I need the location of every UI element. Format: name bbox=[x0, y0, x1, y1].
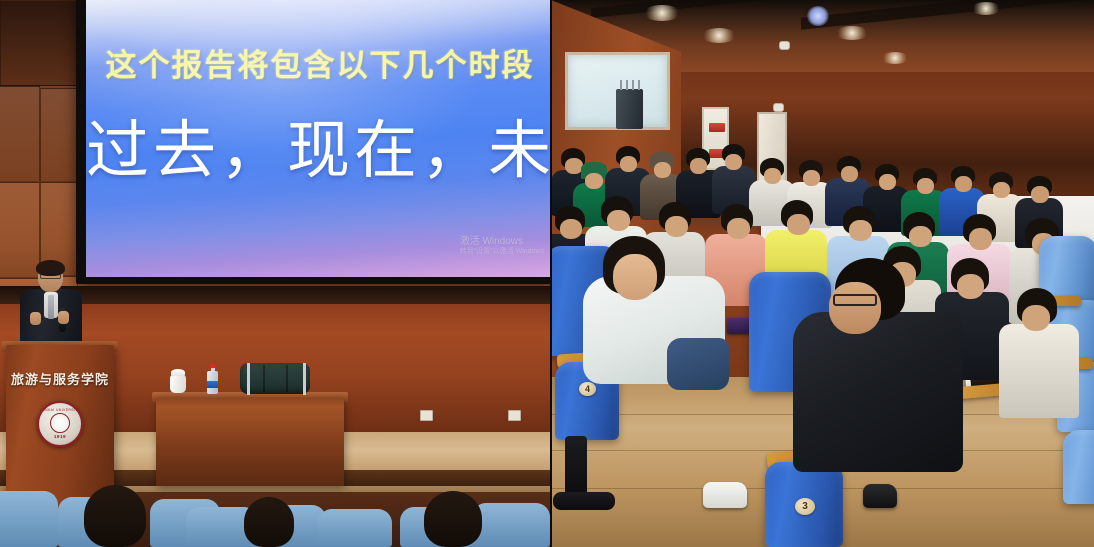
photo-divider bbox=[550, 0, 552, 547]
foreground-audience-head bbox=[424, 491, 482, 547]
windows-activation-watermark: 激活 Windows 转到"设置"以激活 Windows bbox=[460, 236, 544, 257]
audience-face bbox=[665, 216, 688, 237]
seat-number-badge: 4 bbox=[579, 382, 596, 396]
audience-face bbox=[764, 168, 781, 184]
smoke-detector-icon bbox=[779, 41, 790, 50]
watermark-line-1: 激活 Windows bbox=[460, 236, 544, 249]
rack-antenna bbox=[638, 80, 640, 90]
audience-face bbox=[607, 210, 630, 231]
right-photo-audience-scene: 4 3 bbox=[551, 0, 1094, 547]
bottle-label bbox=[207, 381, 218, 388]
audience-face bbox=[1031, 186, 1049, 203]
rack-antenna bbox=[632, 80, 634, 90]
slide-main-text: 过去，现在，未来 bbox=[86, 100, 551, 191]
seal-top-text: NANKAI UNIVERSITY bbox=[40, 409, 81, 412]
seat-number-badge: 3 bbox=[795, 498, 815, 515]
audience-face bbox=[725, 154, 742, 170]
slide-title-text: 这个报告将包含以下几个时段 bbox=[86, 40, 551, 85]
audience-face bbox=[727, 218, 750, 239]
audience-face bbox=[909, 226, 932, 247]
seat-foot bbox=[553, 492, 615, 510]
chair-leg bbox=[303, 363, 306, 395]
ceiling-downlight-icon bbox=[971, 2, 1001, 15]
auditorium-seat[interactable] bbox=[1063, 430, 1094, 504]
audience-face bbox=[841, 166, 858, 182]
audience-face bbox=[803, 170, 820, 186]
audience-face bbox=[955, 176, 972, 192]
foreground-audience-head bbox=[84, 485, 146, 547]
foreground-seat bbox=[472, 503, 550, 547]
head-table bbox=[156, 398, 344, 486]
audience-face bbox=[620, 156, 637, 172]
seal-year: 1919 bbox=[54, 434, 66, 439]
rack-antenna bbox=[620, 80, 622, 90]
tea-cup-lid bbox=[171, 369, 185, 376]
foreground-seat bbox=[318, 509, 392, 547]
smoke-detector-icon bbox=[773, 103, 784, 112]
foreground-seat bbox=[0, 491, 58, 547]
wall-panel bbox=[0, 0, 78, 86]
wall-outlet bbox=[420, 410, 433, 421]
university-seal-icon: NANKAI UNIVERSITY 1919 bbox=[37, 401, 83, 447]
speaker-tie bbox=[48, 295, 54, 319]
audience-face bbox=[957, 274, 984, 299]
ceiling-downlight-icon bbox=[807, 6, 829, 26]
audience-face bbox=[969, 228, 992, 250]
audience-face bbox=[879, 174, 896, 190]
audience-black-jacket bbox=[793, 312, 963, 472]
left-photo-podium-scene: 这个报告将包含以下几个时段 过去，现在，未来 激活 Windows 转到"设置"… bbox=[0, 0, 551, 547]
audience-face bbox=[690, 158, 707, 174]
audience-face bbox=[993, 182, 1010, 198]
extinguisher-unit bbox=[709, 123, 725, 132]
projection-booth-window bbox=[565, 52, 670, 130]
rack-antenna bbox=[626, 80, 628, 90]
audience-face bbox=[917, 178, 934, 194]
speaker-hand-left bbox=[30, 312, 41, 325]
podium-label: 旅游与服务学院 bbox=[6, 369, 114, 388]
audience-shoe bbox=[863, 484, 897, 508]
head-table-chair bbox=[240, 363, 310, 394]
podium: 旅游与服务学院 NANKAI UNIVERSITY 1919 bbox=[6, 345, 114, 510]
audience-face bbox=[585, 173, 603, 189]
wall-panel bbox=[40, 88, 78, 182]
ceiling-downlight-icon bbox=[881, 52, 909, 64]
seal-inner-ring bbox=[50, 413, 70, 433]
photo-composite: 这个报告将包含以下几个时段 过去，现在，未来 激活 Windows 转到"设置"… bbox=[0, 0, 1094, 547]
audience-jeans bbox=[667, 338, 729, 390]
audience-face bbox=[829, 282, 881, 334]
foreground-audience-head bbox=[244, 497, 294, 547]
audience-shoe bbox=[703, 482, 747, 508]
tea-cup bbox=[170, 369, 186, 393]
projection-screen-frame: 这个报告将包含以下几个时段 过去，现在，未来 激活 Windows 转到"设置"… bbox=[76, 0, 551, 284]
watermark-line-2: 转到"设置"以激活 Windows bbox=[460, 248, 544, 257]
audience-face bbox=[613, 254, 657, 300]
water-bottle bbox=[207, 364, 218, 394]
projection-equipment-rack bbox=[616, 89, 643, 129]
glasses-icon bbox=[833, 294, 877, 306]
audience-face bbox=[1022, 305, 1050, 331]
audience-face bbox=[654, 162, 671, 178]
ceiling-downlight-icon bbox=[643, 5, 681, 21]
audience-face bbox=[849, 220, 872, 241]
audience-face bbox=[787, 214, 810, 235]
speaker-glasses bbox=[40, 274, 61, 279]
seat-pedestal bbox=[565, 436, 587, 500]
audience-face bbox=[560, 219, 582, 239]
ceiling-downlight-icon bbox=[701, 28, 737, 43]
wall-outlet bbox=[508, 410, 521, 421]
wall-panel bbox=[0, 86, 40, 182]
ceiling-downlight-icon bbox=[835, 26, 869, 40]
audience-torso bbox=[999, 324, 1079, 418]
speaker-hand-right bbox=[58, 311, 69, 324]
chair-leg bbox=[247, 363, 250, 395]
projected-slide: 这个报告将包含以下几个时段 过去，现在，未来 激活 Windows 转到"设置"… bbox=[86, 0, 551, 277]
tea-cup-body bbox=[170, 375, 186, 393]
